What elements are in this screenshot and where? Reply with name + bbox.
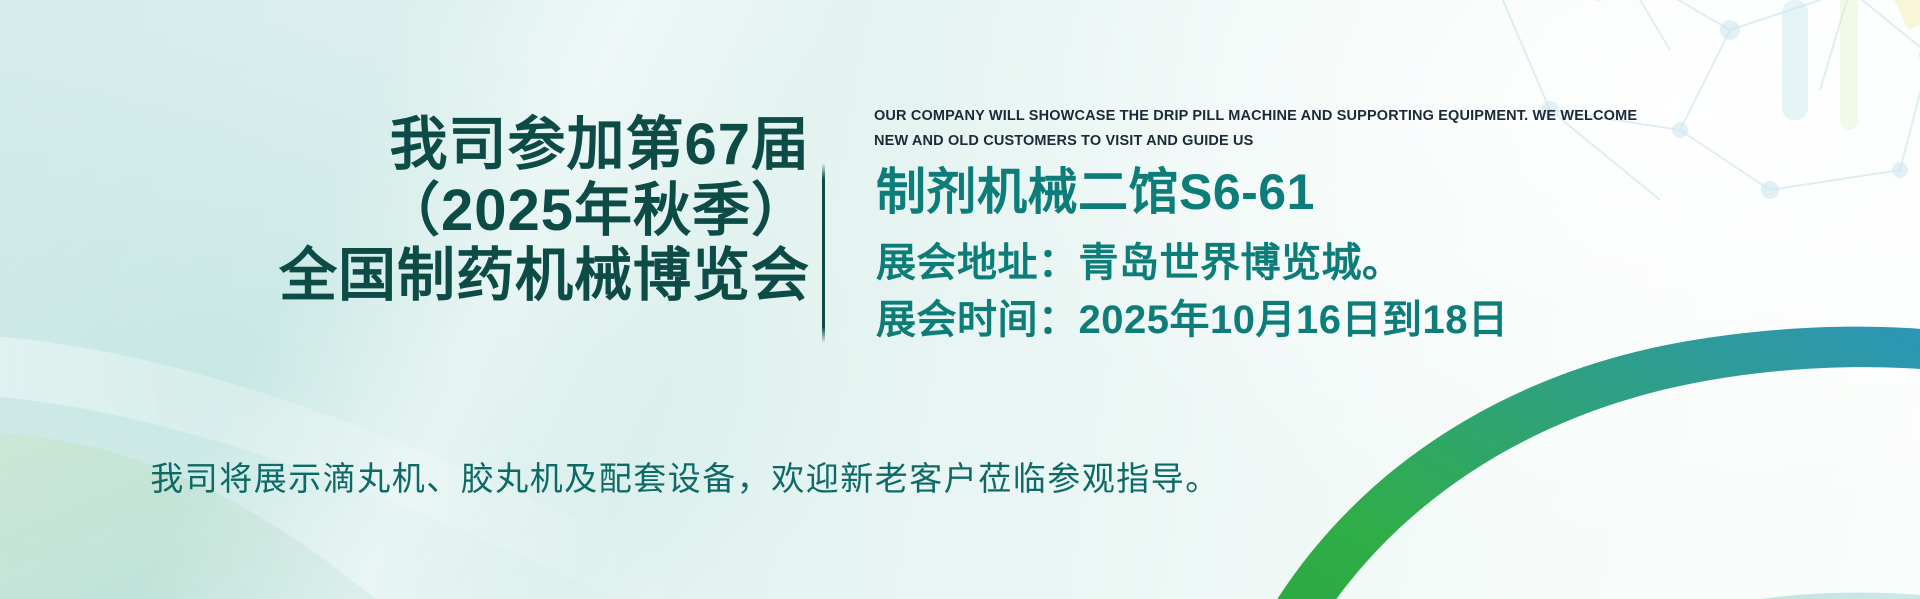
exhibition-date: 展会时间：2025年10月16日到18日 — [876, 292, 1508, 349]
exhibition-banner: 我司参加第67届 （2025年秋季） 全国制药机械博览会 OUR COMPANY… — [0, 0, 1920, 599]
headline-line-2: （2025年秋季） — [120, 178, 810, 244]
headline-line-1: 我司参加第67届 — [120, 112, 810, 178]
banner-caption: 我司将展示滴丸机、胶丸机及配套设备，欢迎新老客户莅临参观指导。 — [0, 452, 1370, 500]
soft-shapes-left — [0, 279, 700, 599]
exhibition-address: 展会地址：青岛世界博览城。 — [876, 235, 1508, 292]
headline-line-3: 全国制药机械博览会 — [120, 243, 810, 309]
english-strapline: OUR COMPANY WILL SHOWCASE THE DRIP PILL … — [874, 104, 1674, 154]
exhibition-info-block: 制剂机械二馆S6-61 展会地址：青岛世界博览城。 展会时间：2025年10月1… — [876, 165, 1508, 349]
vertical-divider — [822, 163, 825, 343]
page-title: 我司参加第67届 （2025年秋季） 全国制药机械博览会 — [120, 112, 810, 309]
booth-number: 制剂机械二馆S6-61 — [876, 165, 1508, 219]
